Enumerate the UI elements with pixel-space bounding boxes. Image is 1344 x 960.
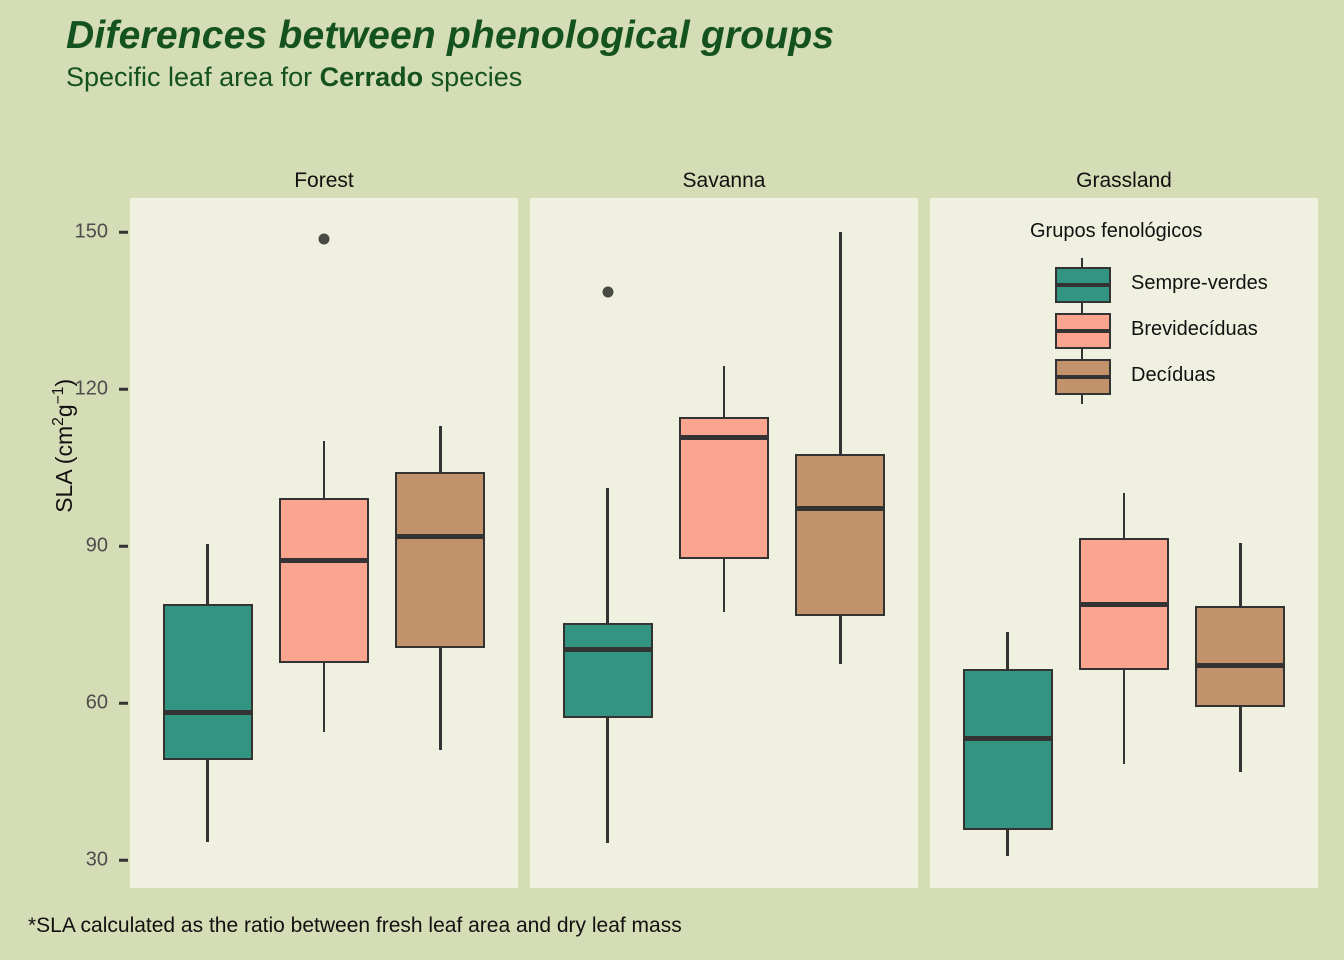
legend-title: Grupos fenológicos [1030,220,1202,243]
y-axis-tick-mark [119,702,128,705]
page-subtitle: Specific leaf area for Cerrado species [66,62,522,93]
footnote-caption: *SLA calculated as the ratio between fre… [28,914,682,938]
legend-item-label: Sempre-verdes [1131,272,1268,295]
panel-forest [130,198,518,888]
whisker-upper [839,232,842,454]
panel-savanna [530,198,918,888]
box-dec-duas[interactable] [1195,606,1285,708]
facet-strip-grassland: Grassland [930,167,1318,195]
subtitle-suffix: species [423,62,522,92]
box-dec-duas[interactable] [395,472,485,648]
y-axis-tick-label: 120 [46,378,108,401]
whisker-lower [839,616,842,664]
legend-key-median [1055,283,1111,287]
legend-key-median [1055,375,1111,379]
y-axis-tick-label: 90 [46,535,108,558]
whisker-upper [439,426,442,472]
y-axis-tick-label: 150 [46,221,108,244]
box-dec-duas[interactable] [795,454,885,616]
legend-item-dec-duas[interactable]: Decíduas [1055,350,1315,404]
legend-key-median [1055,329,1111,333]
whisker-lower [439,648,442,750]
y-axis-tick-mark [119,231,128,234]
page-title: Diferences between phenological groups [66,14,834,58]
chart-canvas: Diferences between phenological groups S… [0,0,1344,960]
whisker-upper [1239,543,1242,606]
y-axis-title: SLA (cm2g−1) [50,336,78,556]
boxplot-forest-2[interactable] [130,198,518,888]
y-axis-tick-label: 30 [46,849,108,872]
legend-item-label: Decíduas [1131,364,1216,387]
whisker-lower [1239,707,1242,772]
subtitle-prefix: Specific leaf area for [66,62,320,92]
y-axis-tick-mark [119,545,128,548]
median-line [1195,663,1285,668]
median-line [795,506,885,511]
facet-strip-savanna: Savanna [530,167,918,195]
subtitle-emphasis: Cerrado [320,62,424,92]
facet-strip-forest: Forest [130,167,518,195]
y-axis-tick-mark [119,859,128,862]
median-line [395,534,485,539]
y-axis-tick-mark [119,388,128,391]
boxplot-savanna-2[interactable] [530,198,918,888]
legend-item-label: Brevidecíduas [1131,318,1258,341]
y-axis-tick-label: 60 [46,692,108,715]
